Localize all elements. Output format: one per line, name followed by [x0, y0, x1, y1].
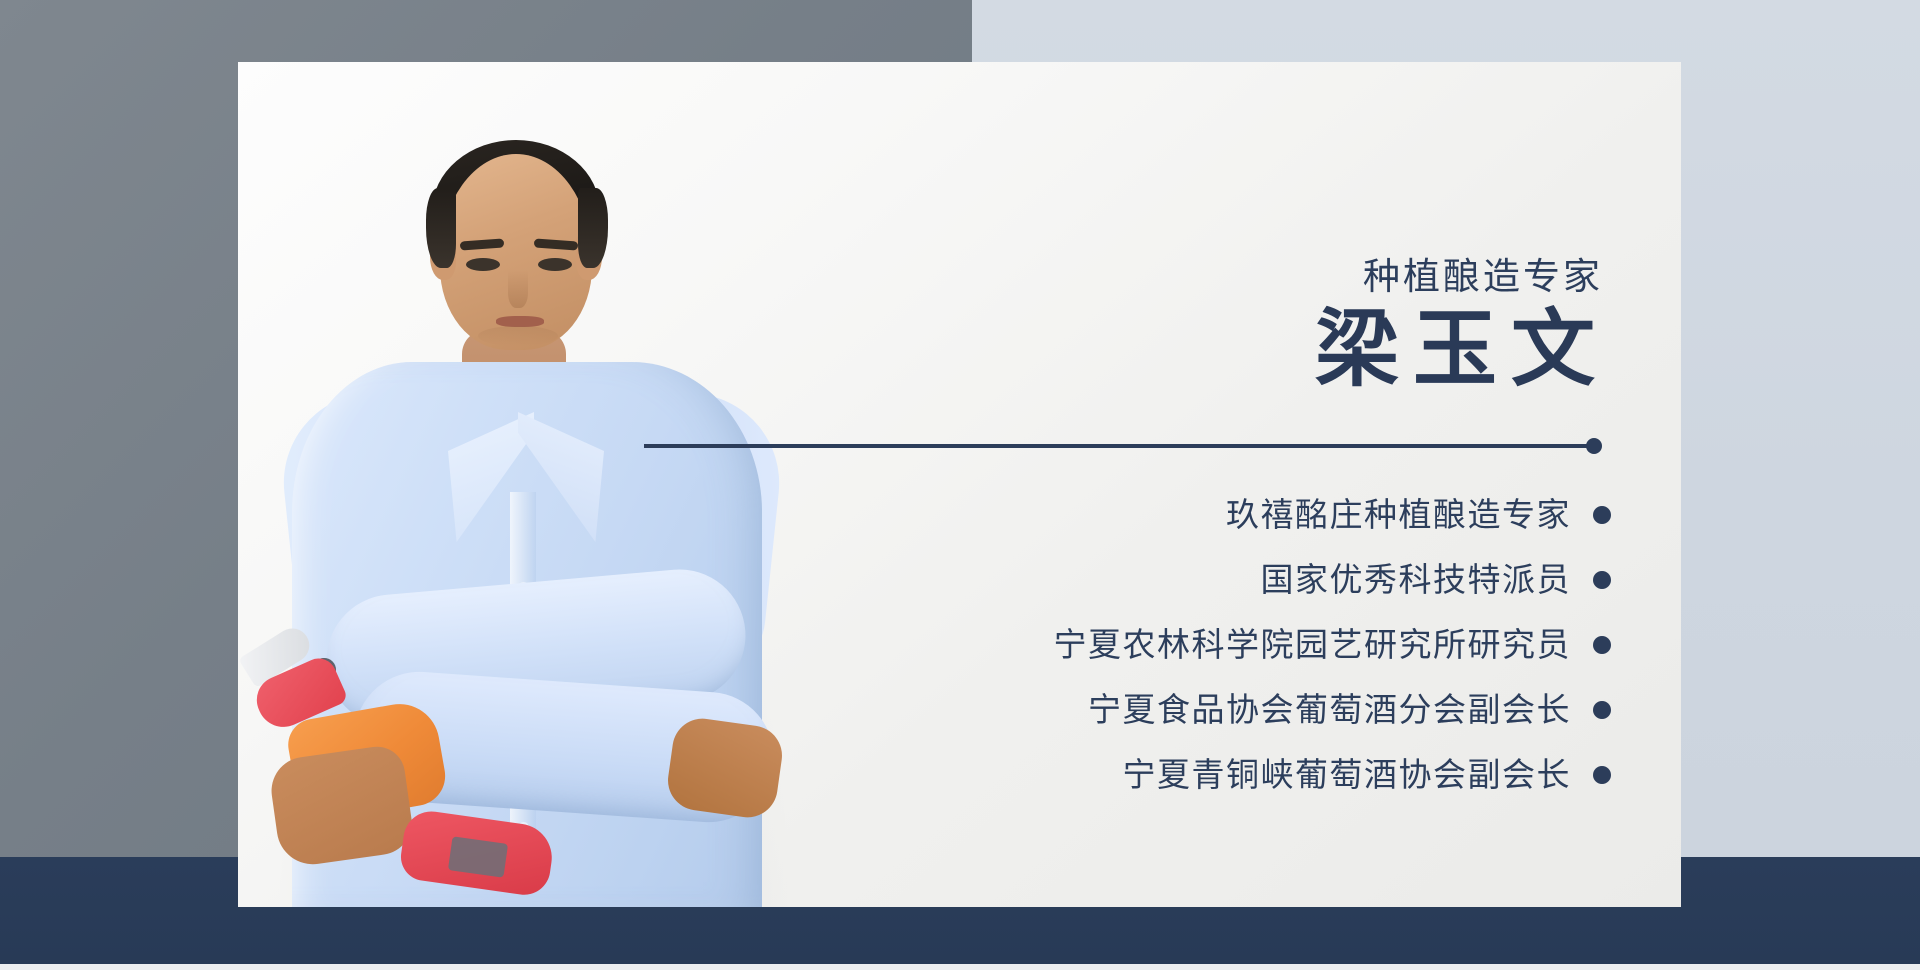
portrait-eye-left — [466, 258, 500, 271]
list-item: 国家优秀科技特派员 — [1261, 547, 1612, 612]
bullet-dot-icon — [1593, 766, 1611, 784]
work-glove-right — [664, 715, 786, 821]
credential-label: 玖禧酩庄种植酿造专家 — [1226, 498, 1571, 531]
background-strip-bottom — [0, 964, 1920, 970]
credential-label: 宁夏青铜峡葡萄酒协会副会长 — [1123, 758, 1572, 791]
bullet-dot-icon — [1593, 636, 1611, 654]
list-item: 宁夏青铜峡葡萄酒协会副会长 — [1123, 742, 1612, 807]
work-glove-tan-palm — [267, 743, 416, 869]
list-item: 玖禧酩庄种植酿造专家 — [1226, 482, 1611, 547]
credential-label: 宁夏食品协会葡萄酒分会副会长 — [1088, 693, 1571, 726]
expert-name: 梁玉文 — [1315, 307, 1609, 395]
list-item: 宁夏食品协会葡萄酒分会副会长 — [1088, 677, 1611, 742]
divider-end-dot — [1586, 438, 1602, 454]
bullet-dot-icon — [1593, 571, 1611, 589]
portrait-nose — [508, 270, 528, 308]
profile-card: 种植酿造专家 梁玉文 玖禧酩庄种植酿造专家 国家优秀科技特派员 宁夏农林科学院园… — [238, 62, 1681, 907]
portrait-chin — [478, 326, 558, 346]
bullet-dot-icon — [1593, 506, 1611, 524]
poster-stage: 种植酿造专家 梁玉文 玖禧酩庄种植酿造专家 国家优秀科技特派员 宁夏农林科学院园… — [0, 0, 1920, 970]
portrait-hair-side-right — [578, 188, 608, 268]
portrait-photo — [238, 62, 834, 907]
credentials-list: 玖禧酩庄种植酿造专家 国家优秀科技特派员 宁夏农林科学院园艺研究所研究员 宁夏食… — [851, 482, 1611, 807]
portrait-eye-right — [538, 258, 572, 271]
bullet-dot-icon — [1593, 701, 1611, 719]
portrait-hair-side-left — [426, 188, 456, 268]
list-item: 宁夏农林科学院园艺研究所研究员 — [1054, 612, 1612, 677]
expert-subtitle: 种植酿造专家 — [1363, 258, 1603, 295]
divider-line — [644, 444, 1596, 448]
credential-label: 国家优秀科技特派员 — [1261, 563, 1572, 596]
credential-label: 宁夏农林科学院园艺研究所研究员 — [1054, 628, 1572, 661]
